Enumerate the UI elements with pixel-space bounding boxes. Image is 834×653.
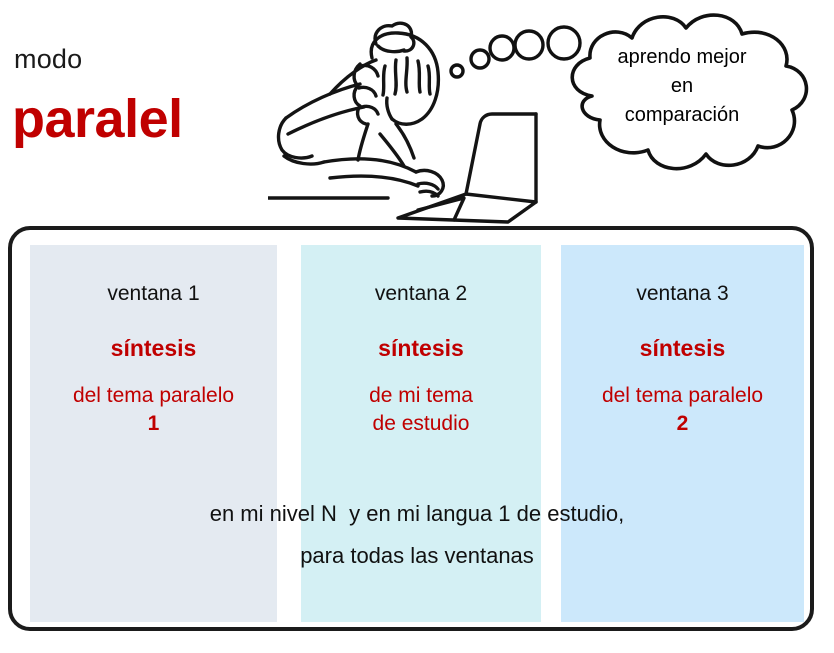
window-1-synthesis-label: síntesis <box>30 337 277 360</box>
window-1-desc-line-2: 1 <box>30 410 277 438</box>
window-3-label: ventana 3 <box>561 283 804 304</box>
page-title: paralel <box>12 92 183 146</box>
thought-line-2: en <box>582 72 782 101</box>
window-2-label: ventana 2 <box>301 283 541 304</box>
window-panel-1[interactable]: ventana 1 síntesis del tema paralelo 1 <box>30 245 277 622</box>
window-3-desc-line-2: 2 <box>561 410 804 438</box>
window-panel-3[interactable]: ventana 3 síntesis del tema paralelo 2 <box>561 245 804 622</box>
window-3-description: del tema paralelo 2 <box>561 382 804 439</box>
window-2-synthesis-label: síntesis <box>301 337 541 360</box>
window-1-label: ventana 1 <box>30 283 277 304</box>
window-3-desc-line-1: del tema paralelo <box>561 382 804 410</box>
window-panel-2[interactable]: ventana 2 síntesis de mi tema de estudio <box>301 245 541 622</box>
windows-columns: ventana 1 síntesis del tema paralelo 1 v… <box>30 245 804 622</box>
window-1-desc-line-1: del tema paralelo <box>30 382 277 410</box>
header-region: modo paralel <box>0 0 834 226</box>
thought-line-1: aprendo mejor <box>582 43 782 72</box>
window-3-synthesis-label: síntesis <box>561 337 804 360</box>
mode-word-label: modo <box>14 46 82 73</box>
thought-line-3: comparación <box>582 101 782 130</box>
window-2-desc-line-1: de mi tema <box>301 382 541 410</box>
thought-bubble-text: aprendo mejor en comparación <box>582 43 782 130</box>
window-2-description: de mi tema de estudio <box>301 382 541 439</box>
window-2-desc-line-2: de estudio <box>301 410 541 438</box>
window-1-description: del tema paralelo 1 <box>30 382 277 439</box>
